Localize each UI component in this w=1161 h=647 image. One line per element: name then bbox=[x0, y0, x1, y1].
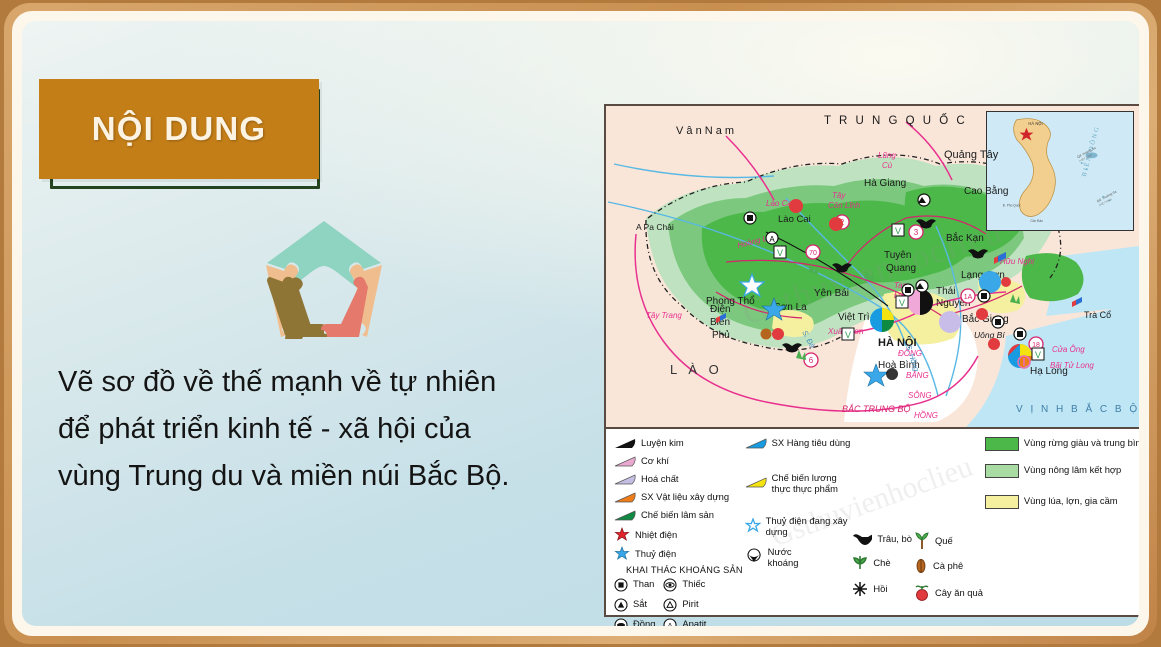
legend-item: Nhiệt điện bbox=[614, 527, 743, 543]
zone-agroforestry-swatch bbox=[985, 464, 1019, 478]
svg-text:Cù: Cù bbox=[882, 161, 893, 170]
svg-text:Bắc Kạn: Bắc Kạn bbox=[946, 231, 984, 244]
svg-text:HỒNG: HỒNG bbox=[914, 410, 938, 420]
title-banner: NỘI DUNG bbox=[39, 79, 319, 179]
legend-item: Vùng rừng giàu và trung bình bbox=[985, 436, 1139, 451]
pyrite-icon bbox=[663, 598, 677, 612]
svg-text:Quảng Tây: Quảng Tây bbox=[944, 149, 999, 161]
tea-icon bbox=[852, 555, 868, 571]
svg-text:BẮC TRUNG BỘ: BẮC TRUNG BỘ bbox=[842, 404, 911, 414]
legend-column-zones: Vùng rừng giàu và trung bình Vùng nông l… bbox=[985, 436, 1139, 615]
iron-icon bbox=[614, 598, 628, 612]
legend-item: Cà phê bbox=[914, 558, 983, 574]
legend-item: Đồng bbox=[614, 617, 655, 626]
food-processing-icon bbox=[745, 477, 767, 488]
legend-item: SX Vật liệu xây dựng bbox=[614, 490, 743, 505]
svg-text:Tuyên: Tuyên bbox=[884, 250, 911, 261]
legend-item: A Apatit bbox=[663, 617, 706, 626]
svg-text:70: 70 bbox=[809, 250, 817, 257]
legend-item: Chế biến lâm sản bbox=[614, 508, 743, 523]
page-title: NỘI DUNG bbox=[92, 110, 267, 148]
coal-icon bbox=[614, 578, 628, 592]
svg-text:L À O: L À O bbox=[670, 362, 723, 377]
map-canvas: Gsthuvienhoclieu HÀ NỘI BIỂN ĐÔNG bbox=[606, 106, 1139, 429]
legend-item: Cơ khí bbox=[614, 454, 743, 469]
svg-text:3: 3 bbox=[914, 228, 919, 237]
chemicals-icon bbox=[614, 474, 636, 485]
mining-col-left: Than Sắt Đồng bbox=[614, 577, 655, 626]
svg-text:V â n N a m: V â n N a m bbox=[676, 125, 734, 137]
svg-text:A: A bbox=[769, 235, 775, 244]
svg-text:SÔNG: SÔNG bbox=[908, 391, 932, 400]
svg-text:Cao Bằng: Cao Bằng bbox=[964, 184, 1008, 197]
building-materials-icon bbox=[614, 492, 636, 503]
svg-text:A Pa Chải: A Pa Chải bbox=[636, 222, 674, 232]
thermal-power-icon bbox=[614, 527, 630, 543]
legend-item: Hoá chất bbox=[614, 472, 743, 487]
anise-icon bbox=[852, 581, 868, 597]
puzzle-pentagon-icon bbox=[255, 213, 393, 345]
legend-item: Chè bbox=[852, 555, 912, 571]
legend-item: Quế bbox=[914, 532, 983, 550]
fruit-tree-icon bbox=[914, 584, 930, 602]
legend-item: Luyện kim bbox=[614, 436, 743, 451]
svg-text:V: V bbox=[895, 226, 901, 236]
svg-text:Thái: Thái bbox=[936, 286, 955, 297]
legend-column-industry: Luyện kim Cơ khí Hoá chất SX Vật liệu xâ… bbox=[614, 436, 743, 615]
legend-item: SX Hàng tiêu dùng bbox=[745, 436, 851, 451]
svg-text:T R U N G Q U Ố C: T R U N G Q U Ố C bbox=[824, 113, 967, 127]
svg-text:Bãi Tử Long: Bãi Tử Long bbox=[1050, 361, 1094, 370]
svg-text:Việt Trì: Việt Trì bbox=[838, 312, 870, 323]
map-image: Gsthuvienhoclieu HÀ NỘI BIỂN ĐÔNG bbox=[604, 104, 1139, 617]
slide: NỘI DUNG Vẽ sơ đồ về t bbox=[0, 0, 1161, 647]
svg-text:BẰNG: BẰNG bbox=[906, 371, 929, 380]
legend-column-mid: SX Hàng tiêu dùng Chế biến lương thực th… bbox=[745, 436, 851, 615]
zone-rice-livestock-swatch bbox=[985, 495, 1019, 509]
svg-text:Lũng: Lũng bbox=[878, 151, 896, 160]
svg-text:Phủ: Phủ bbox=[712, 329, 730, 341]
legend-item: Nước khoáng bbox=[745, 547, 851, 568]
body-line-2: để phát triển kinh tế - xã hội của bbox=[58, 406, 588, 453]
apatite-icon: A bbox=[663, 618, 677, 627]
mining-col-right: Thiếc Pirit A Apatit bbox=[663, 577, 706, 626]
body-line-1: Vẽ sơ đồ về thế mạnh về tự nhiên bbox=[58, 359, 588, 406]
legend-item: Thuỷ điện đang xây dựng bbox=[745, 516, 851, 537]
legend-column-agriculture: Trâu, bò Chè Hồi bbox=[852, 436, 912, 615]
mineral-water-icon bbox=[745, 547, 763, 563]
body-line-3: vùng Trung du và miền núi Bắc Bộ. bbox=[58, 453, 588, 500]
mining-header: KHAI THÁC KHOÁNG SẢN bbox=[626, 565, 743, 575]
legend-item: Trâu, bò bbox=[852, 532, 912, 547]
svg-text:Hà Giang: Hà Giang bbox=[864, 178, 906, 189]
svg-text:Quang: Quang bbox=[886, 263, 916, 274]
coffee-icon bbox=[914, 558, 928, 574]
svg-text:V: V bbox=[1035, 350, 1041, 360]
puzzle-piece-bottom-right bbox=[321, 277, 368, 337]
metallurgy-icon bbox=[614, 438, 636, 449]
tin-icon bbox=[663, 578, 677, 592]
svg-text:V: V bbox=[777, 248, 783, 258]
legend-item: Than bbox=[614, 577, 655, 592]
svg-text:V: V bbox=[899, 298, 905, 308]
hydro-under-construction-icon bbox=[745, 518, 761, 534]
machinery-icon bbox=[614, 456, 636, 467]
zone-rich-forest-swatch bbox=[985, 437, 1019, 451]
copper-icon bbox=[614, 618, 628, 627]
svg-text:S. Đà: S. Đà bbox=[800, 329, 817, 350]
svg-text:Lào Cai: Lào Cai bbox=[778, 214, 811, 225]
legend-item: Cây ăn quả bbox=[914, 584, 983, 602]
legend-item: Vùng nông lâm kết hợp bbox=[985, 463, 1139, 478]
svg-text:Tây Trang: Tây Trang bbox=[646, 311, 682, 320]
svg-text:Yên Bái: Yên Bái bbox=[814, 288, 849, 299]
svg-text:6: 6 bbox=[809, 356, 814, 365]
consumer-goods-icon bbox=[745, 438, 767, 449]
legend-item: Pirit bbox=[663, 597, 706, 612]
legend-item: Chế biến lương thực thực phẩm bbox=[745, 473, 851, 494]
svg-text:V: V bbox=[845, 330, 851, 340]
svg-text:Cửa Ông: Cửa Ông bbox=[1052, 345, 1085, 354]
forest-products-icon bbox=[614, 510, 636, 521]
legend-item: Thiếc bbox=[663, 577, 706, 592]
body-text: Vẽ sơ đồ về thế mạnh về tự nhiên để phát… bbox=[58, 359, 588, 500]
map-legend: Gsthuvienhoclieu Luyện kim Cơ khí Hoá ch… bbox=[606, 429, 1139, 615]
legend-item: Vùng lúa, lợn, gia cầm bbox=[985, 494, 1139, 509]
svg-text:Trà Cổ: Trà Cổ bbox=[1084, 310, 1111, 320]
legend-item: Thuỷ điện bbox=[614, 546, 743, 562]
svg-text:A: A bbox=[668, 621, 673, 626]
legend-column-agriculture-2: Quế Cà phê Cây ăn qu bbox=[914, 436, 983, 615]
svg-text:1A: 1A bbox=[964, 294, 973, 301]
cinnamon-icon bbox=[914, 532, 930, 550]
legend-item: Sắt bbox=[614, 597, 655, 612]
svg-text:Tây: Tây bbox=[832, 191, 846, 200]
svg-text:Điện: Điện bbox=[710, 304, 731, 315]
svg-text:Côn Lĩnh: Côn Lĩnh bbox=[828, 201, 861, 210]
buffalo-icon bbox=[852, 533, 872, 547]
slide-stage: NỘI DUNG Vẽ sơ đồ về t bbox=[22, 21, 1139, 626]
hydro-power-icon bbox=[614, 546, 630, 562]
svg-text:Uông Bí: Uông Bí bbox=[974, 330, 1006, 340]
legend-item: Hồi bbox=[852, 581, 912, 597]
svg-text:V Ị N H B Ắ C B Ộ: V Ị N H B Ắ C B Ộ bbox=[1016, 402, 1139, 415]
